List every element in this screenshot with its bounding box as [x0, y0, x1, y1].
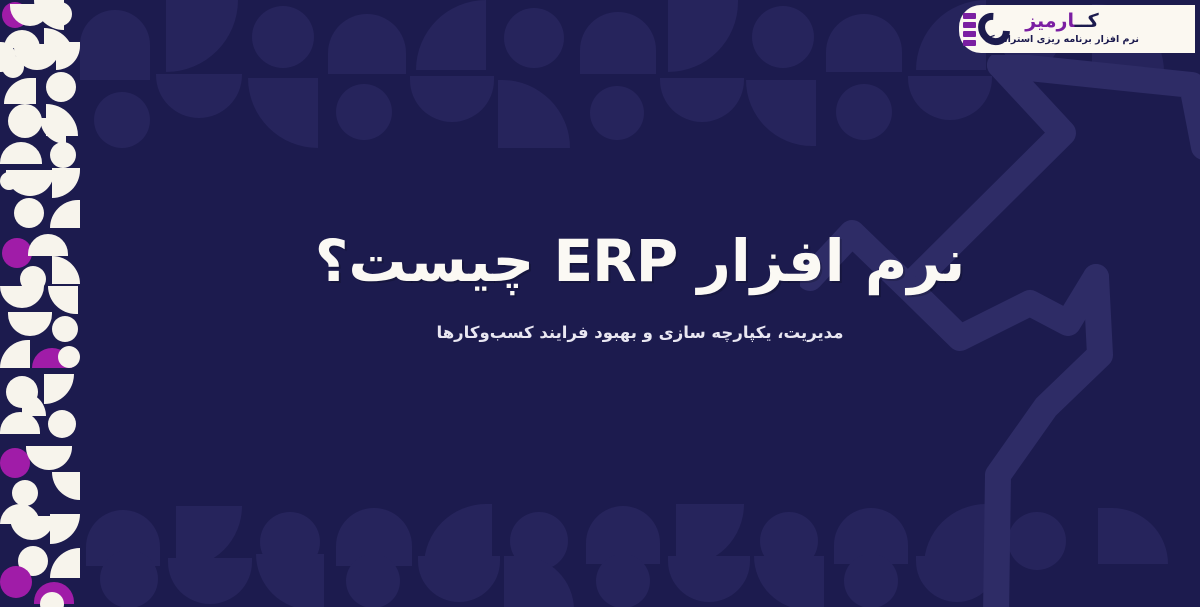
erp-banner: کــارمیز نرم افزار برنامه ریزی استراتژیک… — [0, 0, 1200, 607]
logo-word-prefix: کــ — [1075, 10, 1099, 32]
logo-word-accent: ارمیز — [1025, 10, 1074, 32]
page-subtitle: مدیریت، یکپارچه سازی و بهبود فرایند کسب‌… — [80, 320, 1200, 346]
logo-plate: کــارمیز نرم افزار برنامه ریزی استراتژیک — [959, 5, 1195, 53]
circle-texture-bottom — [80, 492, 1200, 607]
bars-icon — [963, 13, 976, 46]
banner-copy: نرم افزار ERP چیست؟ مدیریت، یکپارچه سازی… — [80, 225, 1200, 346]
logo-badge[interactable]: کــارمیز نرم افزار برنامه ریزی استراتژیک — [959, 5, 1195, 53]
logo-bar — [963, 31, 976, 37]
geometric-mosaic-strip — [0, 0, 80, 607]
logo-bar — [963, 40, 976, 46]
logo-mark — [963, 12, 1009, 46]
page-title: نرم افزار ERP چیست؟ — [80, 225, 1200, 298]
logo-bar — [963, 13, 976, 19]
logo-bar — [963, 22, 976, 28]
